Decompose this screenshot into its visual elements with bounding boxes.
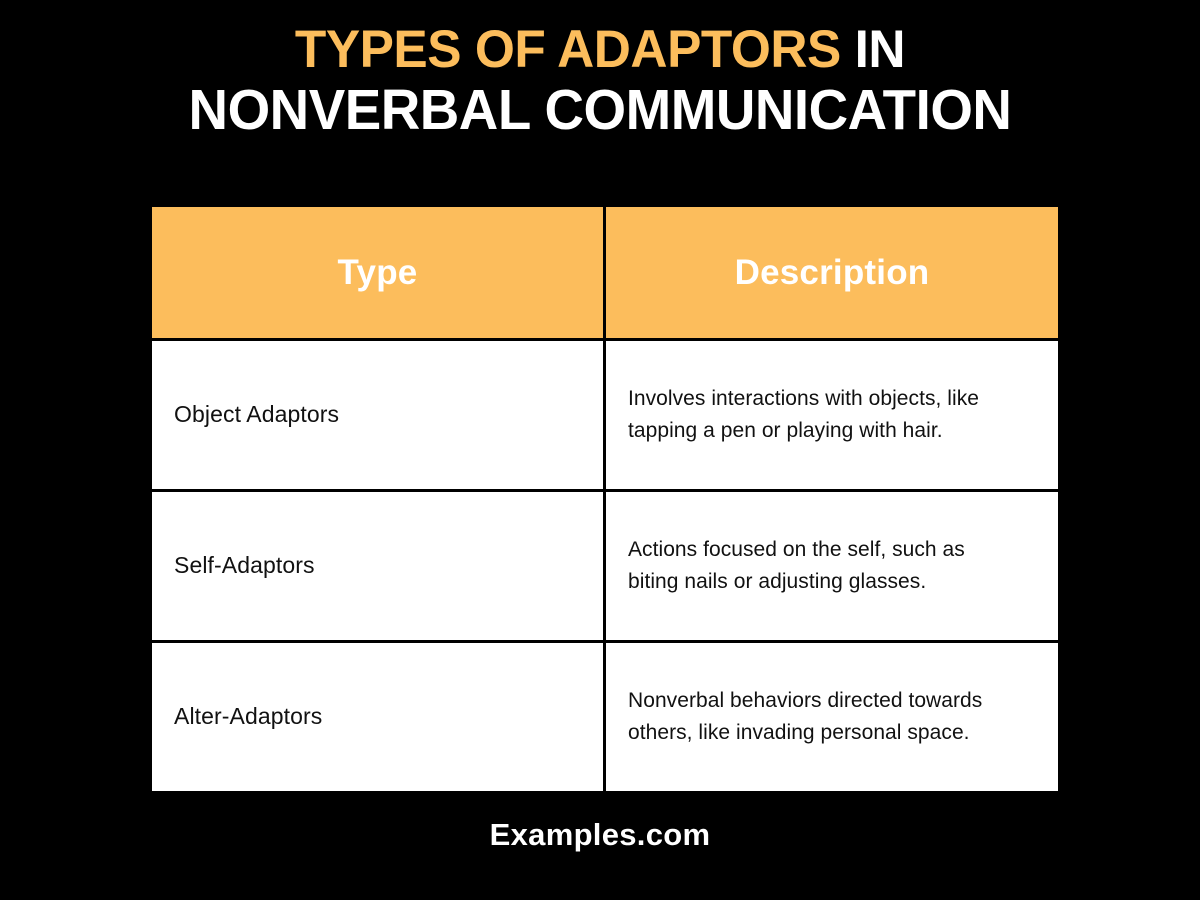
title-line-2: NONVERBAL COMMUNICATION: [24, 81, 1176, 140]
cell-type: Alter-Adaptors: [151, 642, 605, 793]
infographic-canvas: TYPES OF ADAPTORS IN NONVERBAL COMMUNICA…: [0, 0, 1200, 900]
table-row: Object Adaptors Involves interactions wi…: [151, 340, 1060, 491]
table-body: Object Adaptors Involves interactions wi…: [151, 340, 1060, 793]
column-header-description: Description: [605, 206, 1060, 340]
adaptor-table-container: Type Description Object Adaptors Involve…: [146, 201, 1061, 797]
cell-description: Nonverbal behaviors directed towards oth…: [605, 642, 1060, 793]
cell-type: Self-Adaptors: [151, 491, 605, 642]
table-row: Alter-Adaptors Nonverbal behaviors direc…: [151, 642, 1060, 793]
cell-description: Involves interactions with objects, like…: [605, 340, 1060, 491]
page-title: TYPES OF ADAPTORS IN NONVERBAL COMMUNICA…: [0, 22, 1200, 140]
adaptor-table: Type Description Object Adaptors Involve…: [149, 204, 1061, 794]
table-header-row: Type Description: [151, 206, 1060, 340]
title-line-1: TYPES OF ADAPTORS IN: [18, 22, 1182, 77]
column-header-type: Type: [151, 206, 605, 340]
table-header: Type Description: [151, 206, 1060, 340]
footer-brand: Examples.com: [0, 817, 1200, 853]
title-accent-text: TYPES OF ADAPTORS: [295, 20, 841, 79]
cell-description: Actions focused on the self, such as bit…: [605, 491, 1060, 642]
cell-type: Object Adaptors: [151, 340, 605, 491]
title-plain-text: IN: [841, 20, 905, 79]
table-row: Self-Adaptors Actions focused on the sel…: [151, 491, 1060, 642]
